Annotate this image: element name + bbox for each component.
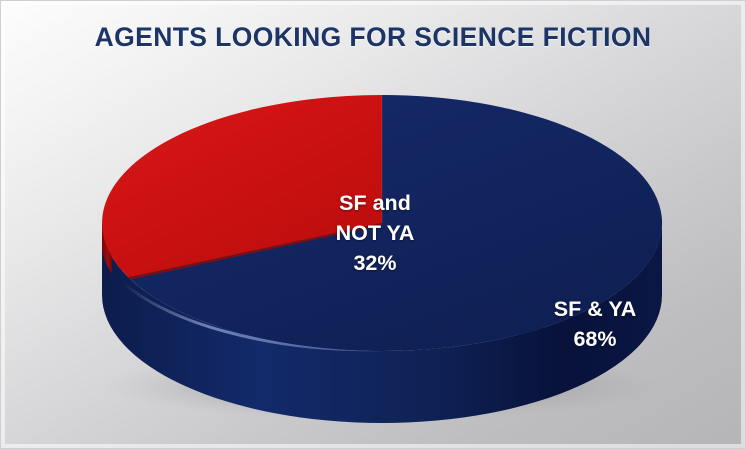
chart-title: AGENTS LOOKING FOR SCIENCE FICTION (0, 22, 746, 53)
slice-label-sf-not-ya: SF and NOT YA 32% (282, 188, 468, 278)
slice-label-red-line1: SF and (282, 188, 468, 218)
slice-label-blue-value: 68% (500, 324, 690, 354)
slice-label-sf-and-ya: SF & YA 68% (500, 294, 690, 354)
pie-chart-figure: AGENTS LOOKING FOR SCIENCE FICTION (0, 0, 746, 449)
slice-label-blue-line1: SF & YA (500, 294, 690, 324)
slice-label-red-line2: NOT YA (282, 218, 468, 248)
pie-chart-graphic: SF and NOT YA 32% SF & YA 68% (96, 86, 652, 391)
slice-label-red-value: 32% (282, 248, 468, 278)
